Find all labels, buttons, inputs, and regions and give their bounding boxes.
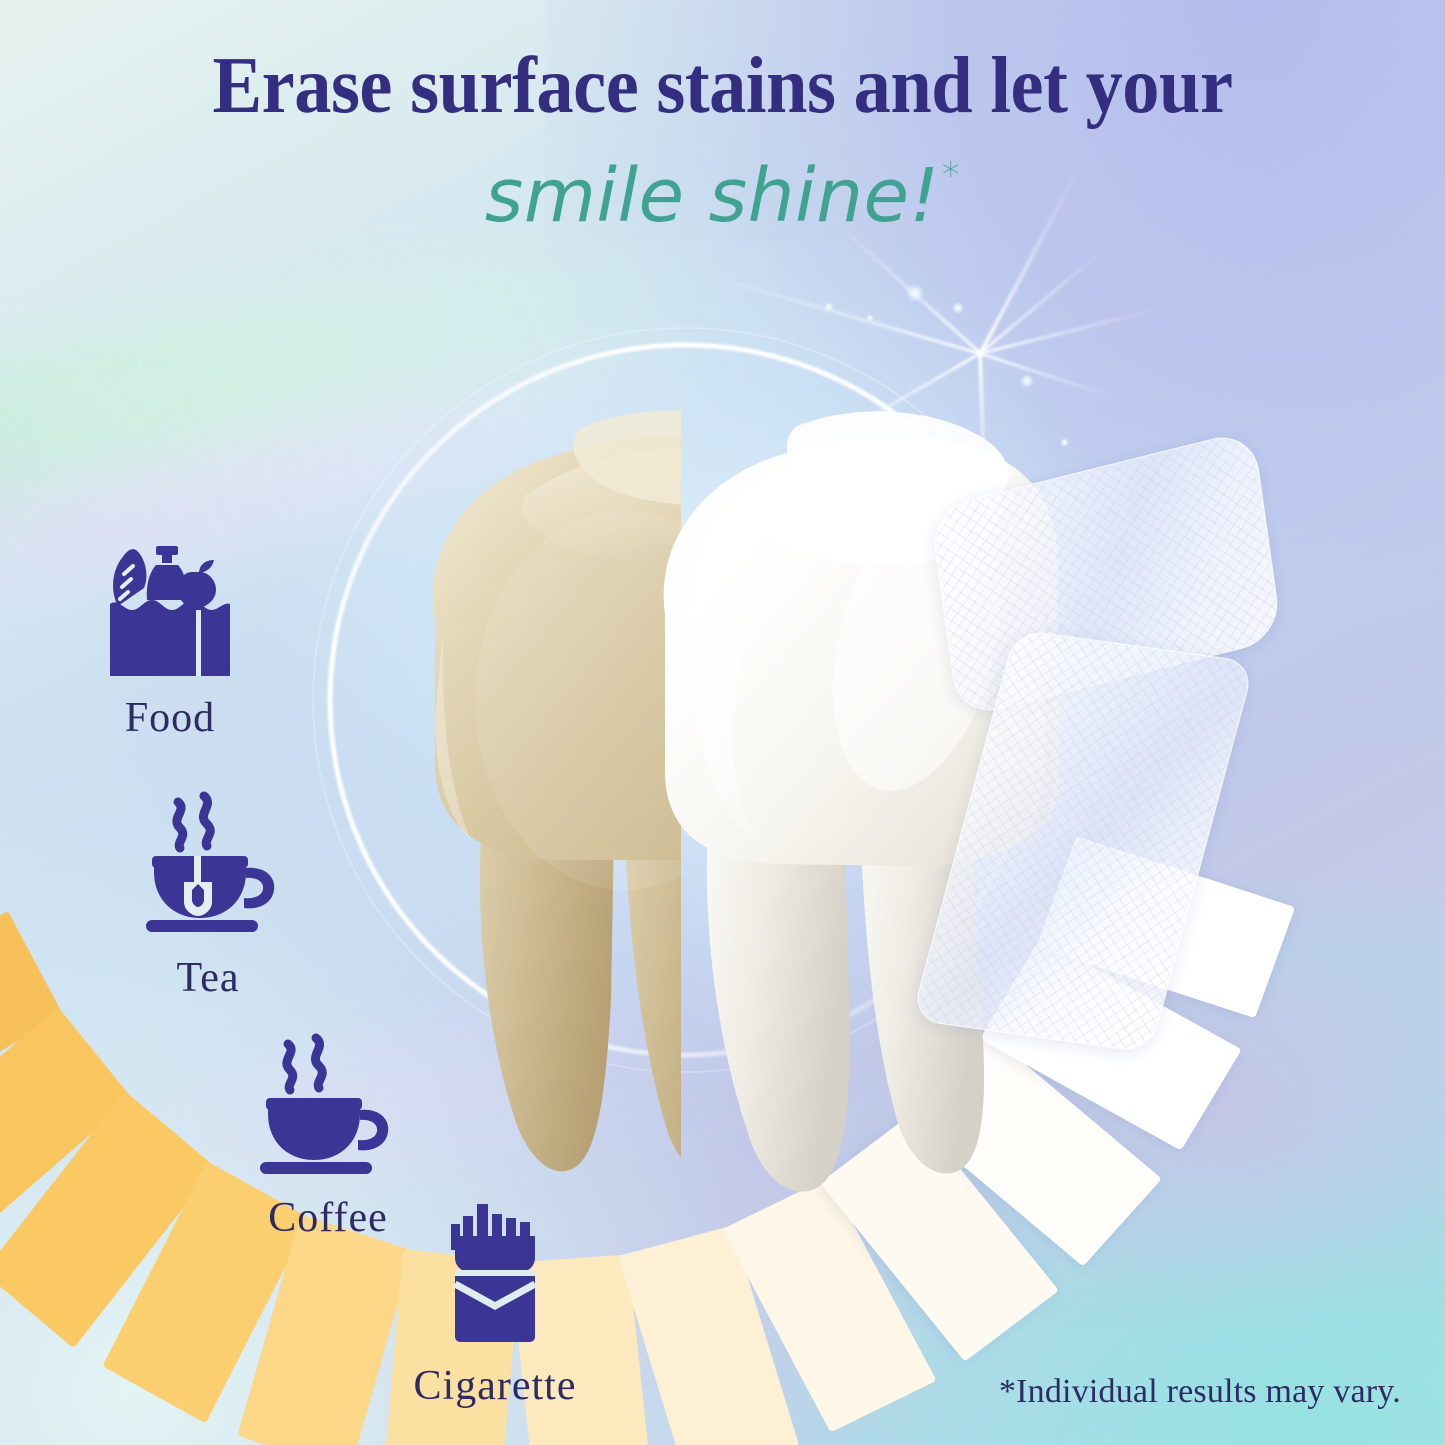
stain-cause-tea-label: Tea: [108, 954, 308, 1002]
footnote-marker: *: [942, 155, 961, 196]
disclaimer-footnote: *Individual results may vary.: [999, 1373, 1401, 1411]
grocery-bag-icon: [100, 530, 240, 680]
coffee-cup-icon: [258, 1030, 398, 1180]
page-subtitle: smile shine!*: [0, 158, 1445, 233]
cigarette-pack-icon: [425, 1198, 565, 1348]
stain-cause-food-label: Food: [70, 694, 270, 742]
stain-cause-tea: Tea: [108, 790, 308, 1002]
page-subtitle-text: smile shine!: [485, 153, 940, 239]
product-poster: Erase surface stains and let your smile …: [0, 0, 1445, 1445]
stain-cause-cigarette-label: Cigarette: [390, 1362, 600, 1410]
hero-tooth-group: [385, 300, 985, 1200]
stain-cause-cigarette: Cigarette: [390, 1198, 600, 1410]
teacup-icon: [138, 790, 278, 940]
stain-cause-food: Food: [70, 530, 270, 742]
page-title: Erase surface stains and let your: [51, 46, 1395, 126]
